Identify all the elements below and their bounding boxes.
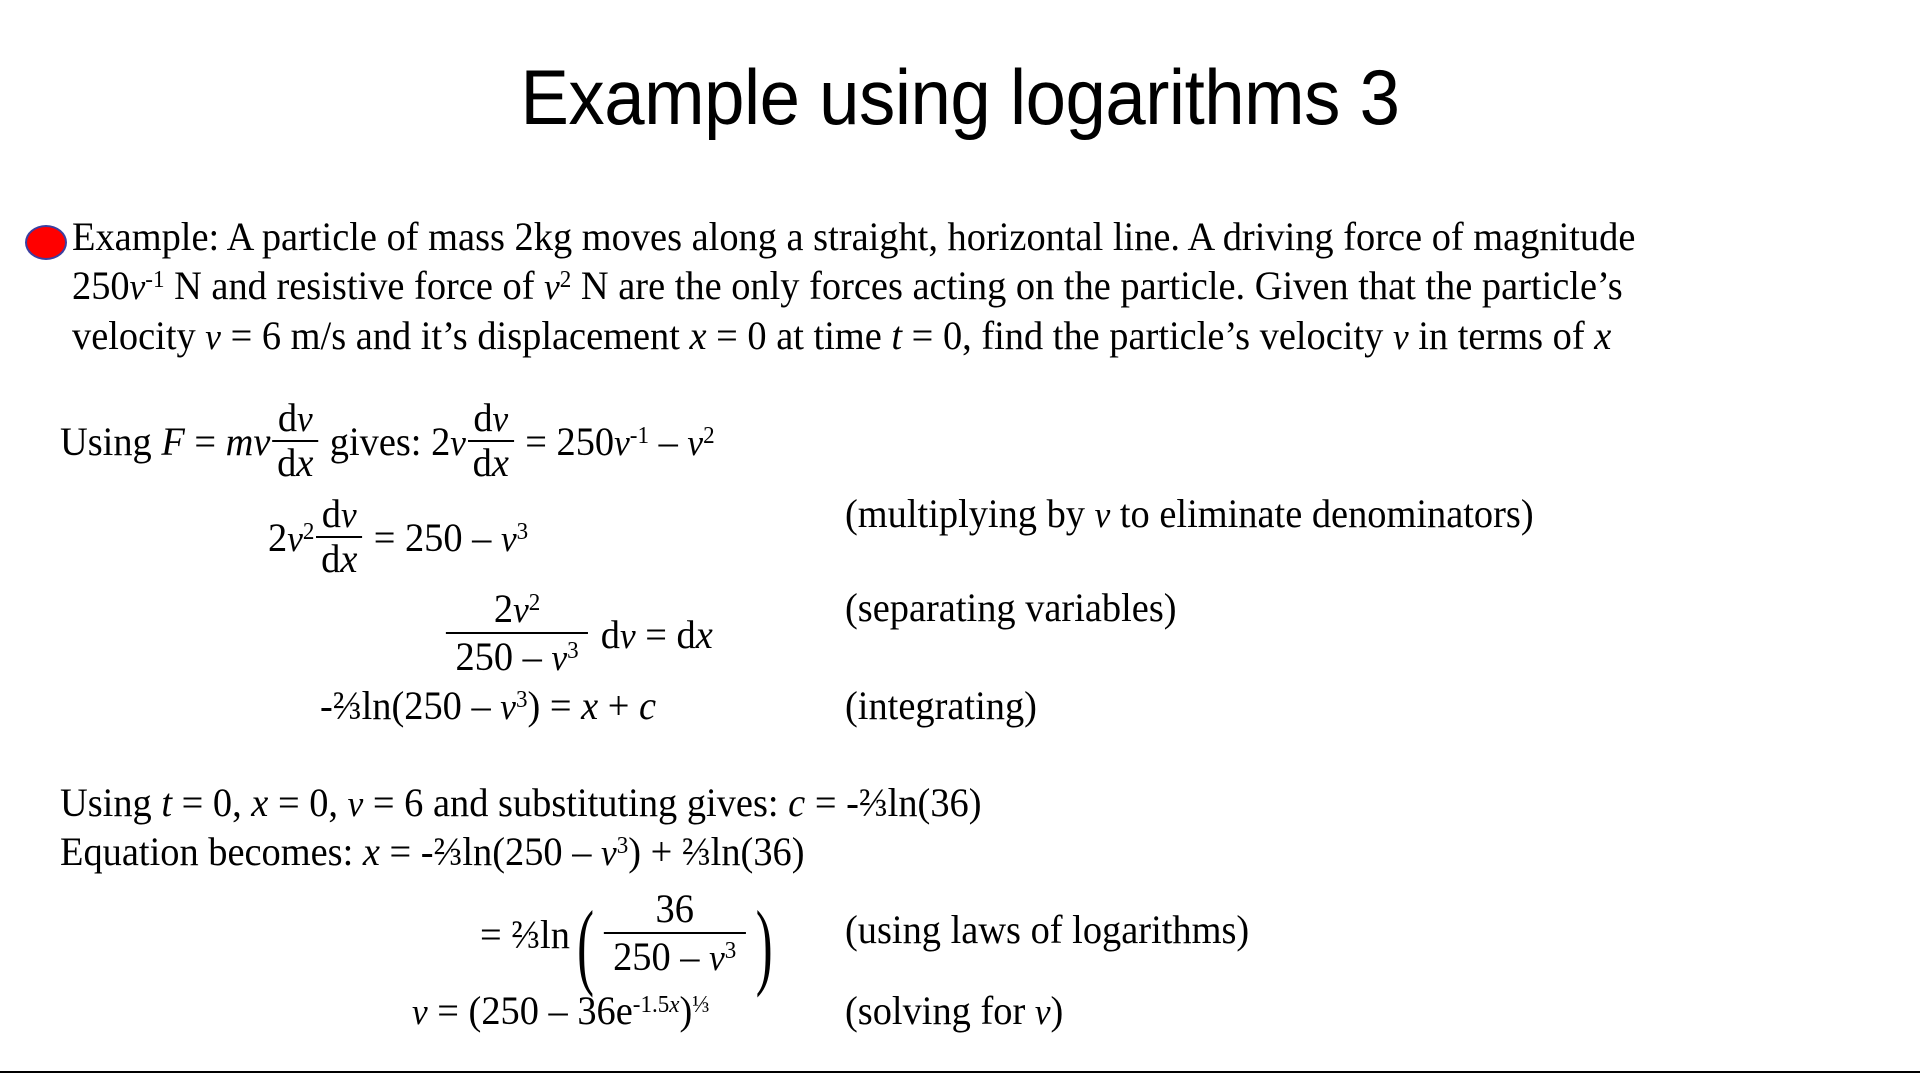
- work1-using: Using: [60, 419, 161, 464]
- work2-den: dx: [316, 538, 362, 580]
- work1-d2: d: [277, 440, 296, 485]
- work3-fraction: 2v2250 – v3: [446, 588, 588, 678]
- work3-v: v: [513, 589, 529, 630]
- work1-minus: –: [649, 419, 687, 464]
- intro-velocity-label: velocity: [72, 313, 205, 358]
- concl1-using: Using: [60, 780, 161, 825]
- intro-displacement-text: = 6 m/s and it’s displacement: [221, 313, 690, 358]
- concl2-v: v: [601, 832, 617, 873]
- work-line-3: 2v2250 – v3 dv = dx: [443, 588, 713, 678]
- work-note-separating: (separating variables): [845, 588, 1177, 628]
- intro-text: Example: A particle of mass 2kg moves al…: [72, 212, 1835, 361]
- footer-divider: [0, 1071, 1920, 1073]
- work2-two: 2: [268, 515, 287, 560]
- work1-v: v: [450, 422, 466, 463]
- concl3-denominator: 250 – v3: [603, 934, 745, 978]
- concl1-t: t: [161, 780, 172, 825]
- concl4-sup-x: x: [669, 992, 679, 1018]
- work1-d: d: [278, 395, 297, 440]
- work1-rhs-v2: v: [687, 422, 703, 463]
- intro-v4: v: [1393, 316, 1409, 357]
- concl3-v: v: [709, 937, 725, 978]
- work2-d: d: [322, 491, 341, 536]
- work1-dv2: v: [493, 398, 509, 439]
- work1-d4: d: [473, 440, 492, 485]
- work2-note-a: (multiplying by: [845, 491, 1095, 536]
- concl4-cube-root: ⅓: [692, 992, 709, 1018]
- concl4-b: ): [679, 988, 692, 1033]
- concl2-x: x: [363, 829, 380, 874]
- work4-plus: +: [598, 683, 639, 728]
- work2-note-v: v: [1095, 494, 1111, 535]
- work3-250: 250 –: [455, 634, 551, 679]
- concl4-note-a: (solving for: [845, 988, 1035, 1033]
- work-line-2: 2v2dvdx = 250 – v3: [268, 494, 528, 580]
- intro-resistive-text: N and resistive force of: [164, 263, 544, 308]
- work1-den-1: dx: [272, 442, 318, 484]
- work1-d3: d: [473, 395, 492, 440]
- work2-derivative: dvdx: [316, 494, 362, 580]
- work3-numerator: 2v2: [446, 588, 588, 634]
- work1-dv: v: [297, 398, 313, 439]
- concl1-v: v: [348, 783, 364, 824]
- work3-den-v: v: [551, 637, 567, 678]
- work1-dx: x: [296, 440, 313, 485]
- work2-v: v: [287, 518, 303, 559]
- work1-gives: gives:: [320, 419, 431, 464]
- work1-two: 2: [431, 419, 450, 464]
- conclusion-note-laws: (using laws of logarithms): [845, 910, 1249, 950]
- work1-dx2: x: [492, 440, 509, 485]
- conclusion-line-2: Equation becomes: x = -⅔ln(250 – v3) + ⅔…: [60, 832, 805, 872]
- concl3-exp: 3: [725, 938, 737, 964]
- conclusion-line-3: = ⅔ln(36250 – v3): [480, 888, 779, 978]
- work2-dv: v: [341, 494, 357, 535]
- red-bullet-icon: [25, 225, 67, 260]
- work1-den-2: dx: [468, 442, 514, 484]
- work2-rhs: = 250 –: [364, 515, 501, 560]
- intro-250: 250: [72, 263, 130, 308]
- conclusion-line-4: v = (250 – 36e-1.5x)⅓: [412, 991, 710, 1031]
- work3-dv-d: d: [591, 612, 620, 657]
- concl2-exp: 3: [617, 833, 629, 859]
- intro-v3: v: [205, 316, 221, 357]
- concl4-a: = (250 – 36e: [428, 988, 633, 1033]
- concl4-sup-a: -1.5: [633, 992, 669, 1018]
- intro-v2: v: [544, 266, 560, 307]
- work3-den-exp: 3: [567, 638, 579, 664]
- concl1-c: = 0,: [268, 780, 347, 825]
- concl3-fraction: 36250 – v3: [603, 888, 745, 978]
- concl2-c: ) + ⅔ln(36): [628, 829, 804, 874]
- work2-rhs-exp: 3: [517, 519, 529, 545]
- concl4-v: v: [412, 991, 428, 1032]
- work1-num-2: dv: [468, 398, 514, 442]
- work1-num-1: dv: [272, 398, 318, 442]
- conclusion-note-solving: (solving for v): [845, 991, 1063, 1031]
- work2-d2: d: [321, 536, 340, 581]
- work1-eq: =: [185, 419, 226, 464]
- work4-c: c: [639, 683, 656, 728]
- work3-two: 2: [494, 586, 513, 631]
- work2-num: dv: [316, 494, 362, 538]
- concl1-b: = 0,: [172, 780, 251, 825]
- work2-rhs-v: v: [501, 518, 517, 559]
- work2-note-b: to eliminate denominators): [1110, 491, 1533, 536]
- work-line-4: -⅔ln(250 – v3) = x + c: [320, 686, 656, 726]
- concl3-250: 250 –: [613, 934, 709, 979]
- intro-bullet-paragraph: Example: A particle of mass 2kg moves al…: [18, 212, 1908, 361]
- intro-x: x: [690, 313, 707, 358]
- intro-v: v: [130, 266, 146, 307]
- concl3-eq: = ⅔ln: [480, 912, 570, 957]
- work2-exp: 2: [303, 519, 315, 545]
- concl1-cc: c: [788, 780, 805, 825]
- work-note-integrating: (integrating): [845, 686, 1037, 726]
- work1-F: F: [161, 419, 184, 464]
- concl2-b: = -⅔ln(250 –: [380, 829, 601, 874]
- concl1-e: = -⅔ln(36): [805, 780, 981, 825]
- work3-dv-v: v: [620, 615, 636, 656]
- work3-exp: 2: [529, 590, 541, 616]
- concl4-note-v: v: [1035, 991, 1051, 1032]
- work4-eq: ) =: [527, 683, 581, 728]
- page-title: Example using logarithms 3: [67, 58, 1853, 136]
- work3-dx-x: x: [696, 612, 713, 657]
- intro-exp-2: 2: [560, 267, 572, 293]
- work3-eq-dx: = d: [636, 612, 696, 657]
- work1-mv: mv: [226, 419, 271, 464]
- intro-forces-text: N are the only forces acting on the part…: [571, 263, 1622, 308]
- work-note-multiplying: (multiplying by v to eliminate denominat…: [845, 494, 1534, 534]
- work1-eq250: = 250: [516, 419, 614, 464]
- concl4-exponent: -1.5x: [633, 992, 680, 1018]
- concl4-note-b: ): [1051, 988, 1064, 1033]
- intro-find-text: = 0, find the particle’s velocity: [902, 313, 1393, 358]
- work2-dx: x: [340, 536, 357, 581]
- work1-derivative-1: dvdx: [272, 398, 318, 484]
- work4-lhs: -⅔ln(250 –: [320, 683, 500, 728]
- work1-rhs-exp: -1: [630, 423, 649, 449]
- concl3-numerator: 36: [603, 888, 745, 934]
- intro-attime-text: = 0 at time: [707, 313, 892, 358]
- work1-rhs-exp2: 2: [703, 423, 715, 449]
- conclusion-line-1: Using t = 0, x = 0, v = 6 and substituti…: [60, 783, 982, 823]
- intro-line-1: Example: A particle of mass 2kg moves al…: [72, 212, 1835, 261]
- work3-denominator: 250 – v3: [446, 634, 588, 678]
- work4-x: x: [581, 683, 598, 728]
- work1-rhs-v: v: [614, 422, 630, 463]
- work-line-1: Using F = mvdvdx gives: 2vdvdx = 250v-1 …: [60, 398, 715, 484]
- intro-line-2: 250v-1 N and resistive force of v2 N are…: [72, 261, 1835, 311]
- work1-derivative-2: dvdx: [468, 398, 514, 484]
- work4-exp: 3: [516, 687, 528, 713]
- concl1-d: = 6 and substituting gives:: [363, 780, 788, 825]
- concl2-a: Equation becomes:: [60, 829, 363, 874]
- intro-line-3: velocity v = 6 m/s and it’s displacement…: [72, 311, 1835, 361]
- concl1-x: x: [251, 780, 268, 825]
- slide-canvas: Example using logarithms 3 Example: A pa…: [0, 0, 1920, 1080]
- intro-x2: x: [1594, 313, 1611, 358]
- intro-interms-text: in terms of: [1409, 313, 1595, 358]
- work4-v: v: [500, 686, 516, 727]
- intro-exp-neg1: -1: [145, 267, 164, 293]
- intro-t: t: [891, 313, 902, 358]
